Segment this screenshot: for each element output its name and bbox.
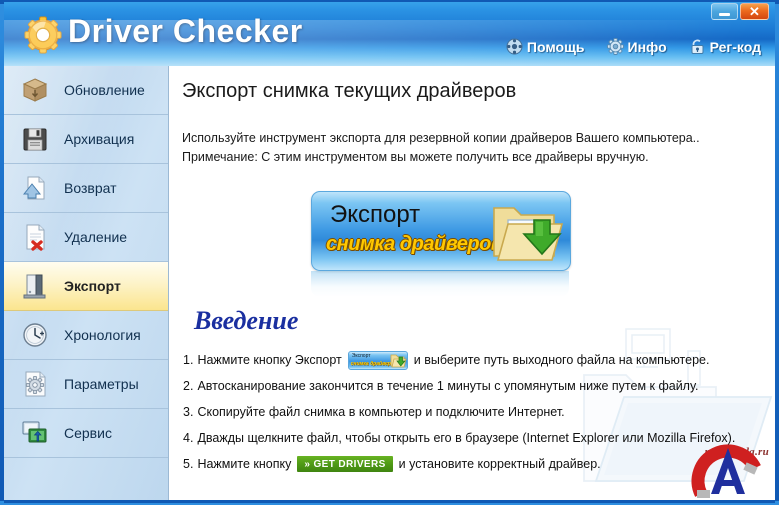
sidebar-item-label: Экспорт	[64, 278, 121, 294]
minimize-button[interactable]	[711, 3, 738, 20]
step-number: 1.	[183, 353, 193, 367]
step-text-after: и установите корректный драйвер.	[399, 457, 601, 471]
sidebar-item-label: Сервис	[64, 425, 112, 441]
header-menu: Помощь	[506, 38, 761, 55]
gear-icon	[24, 16, 62, 54]
service-screens-icon	[20, 418, 50, 448]
step-text-before: Нажмите кнопку	[197, 457, 291, 471]
intro-text: Используйте инструмент экспорта для резе…	[182, 129, 700, 167]
mini-export-line1: Экспорт	[352, 352, 371, 360]
list-item: 3. Скопируйте файл снимка в компьютер и …	[183, 399, 761, 425]
step-number: 5.	[183, 457, 193, 471]
list-item: 1. Нажмите кнопку Экспорт Экспорт снимка…	[183, 347, 761, 373]
mini-export-button[interactable]: Экспорт снимка драйверов	[348, 351, 408, 370]
floppy-disk-icon	[20, 124, 50, 154]
header-menu-item-info[interactable]: Инфо	[607, 38, 667, 55]
step-text-after: и выберите путь выходного файла на компь…	[414, 353, 710, 367]
header-menu-label: Рег-код	[710, 39, 761, 55]
header-menu-label: Инфо	[628, 39, 667, 55]
sidebar-item-backup[interactable]: Архивация	[4, 115, 168, 164]
steps-list: 1. Нажмите кнопку Экспорт Экспорт снимка…	[183, 347, 761, 477]
step-text: Скопируйте файл снимка в компьютер и под…	[197, 405, 564, 419]
restore-icon	[20, 173, 50, 203]
export-button-line2: снимка драйверов	[326, 233, 502, 256]
delete-document-icon	[20, 222, 50, 252]
close-button[interactable]: ✕	[740, 3, 769, 20]
export-button-reflection	[311, 271, 569, 297]
get-drivers-button[interactable]: » GET DRIVERS	[297, 456, 392, 472]
title-bar: Driver Checker ✕ Помощь	[4, 2, 775, 66]
step-number: 3.	[183, 405, 193, 419]
list-item: 4. Дважды щелкните файл, чтобы открыть е…	[183, 425, 761, 451]
body-area: Обновление Архивация	[4, 66, 775, 500]
sidebar-item-label: Архивация	[64, 131, 134, 147]
sidebar-item-label: Возврат	[64, 180, 117, 196]
folder-download-icon	[488, 194, 566, 268]
sidebar: Обновление Архивация	[4, 66, 169, 500]
clock-icon	[20, 320, 50, 350]
main-panel: magnetida.ru Экспорт снимка текущих драй…	[170, 66, 775, 500]
header-menu-item-help[interactable]: Помощь	[506, 38, 585, 55]
step-text: Автосканирование закончится в течение 1 …	[197, 379, 698, 393]
list-item: 5. Нажмите кнопку » GET DRIVERS и устано…	[183, 451, 761, 477]
sidebar-item-export[interactable]: Экспорт	[4, 262, 168, 311]
server-icon	[20, 271, 50, 301]
sidebar-item-update[interactable]: Обновление	[4, 66, 168, 115]
gear-info-icon	[607, 38, 624, 55]
help-icon	[506, 38, 523, 55]
page-title: Экспорт снимка текущих драйверов	[182, 80, 516, 103]
box-icon	[20, 75, 50, 105]
sidebar-item-empty	[4, 458, 168, 500]
sidebar-item-restore[interactable]: Возврат	[4, 164, 168, 213]
intro-line-1: Используйте инструмент экспорта для резе…	[182, 129, 700, 148]
step-number: 2.	[183, 379, 193, 393]
intro-line-2: Примечание: С этим инструментом вы может…	[182, 148, 700, 167]
application-window: Driver Checker ✕ Помощь	[0, 0, 779, 505]
sidebar-item-delete[interactable]: Удаление	[4, 213, 168, 262]
window-controls: ✕	[711, 3, 769, 20]
step-text: Дважды щелкните файл, чтобы открыть его …	[197, 431, 735, 445]
sidebar-item-settings[interactable]: Параметры	[4, 360, 168, 409]
sidebar-item-label: Параметры	[64, 376, 139, 392]
app-title: Driver Checker	[68, 13, 303, 50]
header-menu-label: Помощь	[527, 39, 585, 55]
sidebar-item-label: Хронология	[64, 327, 141, 343]
sidebar-item-service[interactable]: Сервис	[4, 409, 168, 458]
list-item: 2. Автосканирование закончится в течение…	[183, 373, 761, 399]
step-text-before: Нажмите кнопку Экспорт	[197, 353, 341, 367]
header-menu-item-regcode[interactable]: Рег-код	[689, 38, 761, 55]
folder-download-icon	[389, 352, 407, 369]
export-snapshot-button[interactable]: Экспорт снимка драйверов	[311, 191, 571, 271]
sidebar-item-label: Удаление	[64, 229, 127, 245]
export-button-line1: Экспорт	[330, 201, 420, 229]
step-number: 4.	[183, 431, 193, 445]
lock-icon	[689, 38, 706, 55]
settings-gear-icon	[20, 369, 50, 399]
sidebar-item-history[interactable]: Хронология	[4, 311, 168, 360]
section-title: Введение	[194, 306, 298, 336]
window-bottom-strip	[4, 500, 775, 503]
sidebar-item-label: Обновление	[64, 82, 145, 98]
